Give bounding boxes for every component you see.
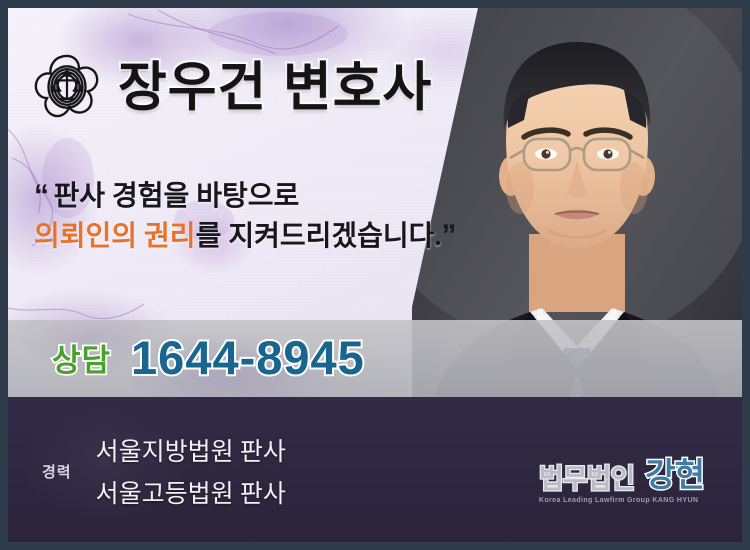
lawyer-banner-ad: 장우건 변호사 “ 판사 경험을 바탕으로 의뢰인의 권리를 지켜드리겠습니다.… — [0, 0, 750, 550]
firm-logo-row: 법무법인 강현 — [539, 448, 704, 496]
consultation-phone[interactable]: 상담 1644-8945 — [52, 330, 365, 385]
firm-logo-subtitle: Korea Leading Lawfirm Group KANG HYUN — [539, 497, 704, 504]
career-item: 서울고등법원 판사 — [96, 474, 286, 510]
quote-line-2: 의뢰인의 권리를 지켜드리겠습니다.” — [34, 216, 456, 256]
career-item: 서울지방법원 판사 — [96, 432, 286, 468]
firm-logo[interactable]: 법무법인 강현 Korea Leading Lawfirm Group KANG… — [539, 448, 704, 504]
career-label: 경력 — [42, 461, 72, 482]
close-quote-mark: ” — [441, 219, 456, 252]
quote-line-1: “ 판사 경험을 바탕으로 — [34, 176, 456, 216]
consultation-label: 상담 — [52, 335, 111, 380]
firm-logo-name: 강현 — [645, 448, 704, 496]
quote-highlight-text: 의뢰인의 권리 — [34, 221, 196, 252]
career-section: 경력 서울지방법원 판사 서울고등법원 판사 — [42, 432, 286, 510]
career-list: 서울지방법원 판사 서울고등법원 판사 — [96, 432, 286, 510]
open-quote-mark: “ — [34, 179, 49, 212]
court-scales-emblem-icon — [30, 50, 104, 124]
firm-logo-prefix: 법무법인 — [539, 457, 634, 496]
banner-header: 장우건 변호사 — [30, 50, 432, 124]
quote-line-1-text: 판사 경험을 바탕으로 — [53, 181, 299, 212]
page-title: 장우건 변호사 — [118, 61, 432, 114]
quote-line-2-text: 를 지켜드리겠습니다. — [196, 221, 442, 252]
phone-number[interactable]: 1644-8945 — [131, 330, 365, 385]
tagline-quote: “ 판사 경험을 바탕으로 의뢰인의 권리를 지켜드리겠습니다.” — [34, 176, 456, 256]
banner-stage: 장우건 변호사 “ 판사 경험을 바탕으로 의뢰인의 권리를 지켜드리겠습니다.… — [8, 8, 742, 542]
